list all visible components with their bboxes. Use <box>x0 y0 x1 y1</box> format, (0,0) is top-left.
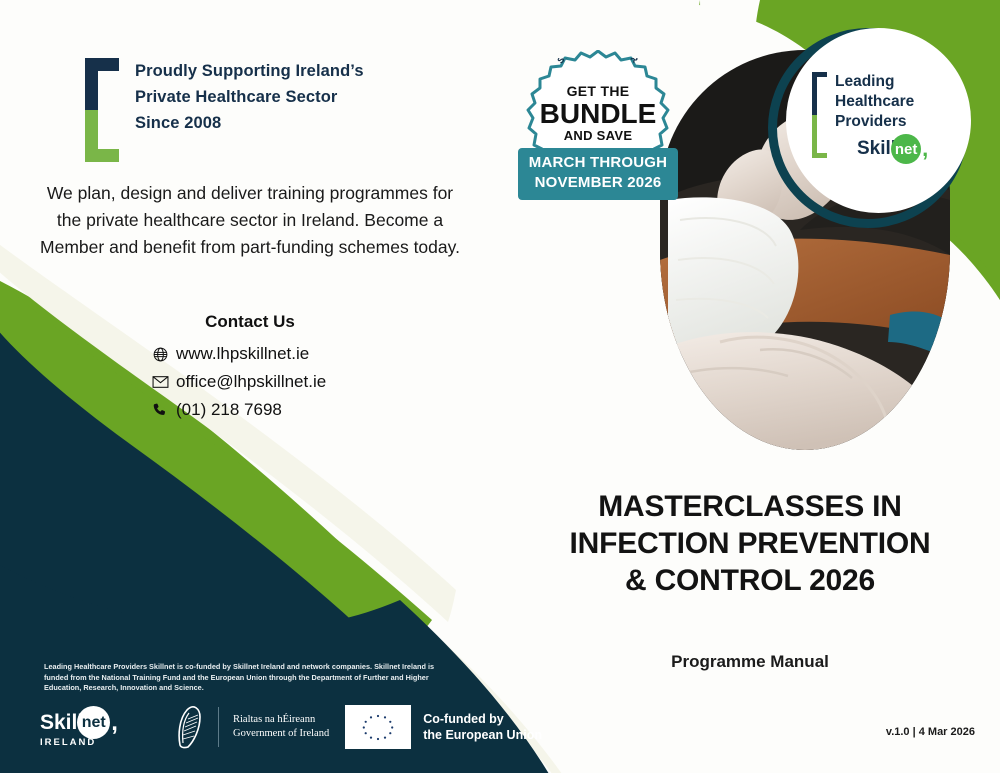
tagline-line-2: Private Healthcare Sector <box>135 84 364 110</box>
version-label: v.1.0 | 4 Mar 2026 <box>690 726 975 738</box>
title-line-1: MASTERCLASSES IN <box>505 488 995 525</box>
intro-paragraph: We plan, design and deliver training pro… <box>40 180 460 261</box>
tagline-line-3: Since 2008 <box>135 110 364 136</box>
badge-strip-line-2: NOVEMBER 2026 <box>518 173 678 193</box>
special-offer-badge: SPECIAL OFFER GET THE BUNDLE AND SAVE MA… <box>518 50 678 195</box>
gov-english-text: Government of Ireland <box>233 727 329 741</box>
eu-flag-icon <box>345 705 411 749</box>
contact-item-phone[interactable]: (01) 218 7698 <box>40 396 460 424</box>
badge-text: SPECIAL OFFER GET THE BUNDLE AND SAVE <box>532 58 664 143</box>
page-title: MASTERCLASSES IN INFECTION PREVENTION & … <box>505 488 995 599</box>
footer-skillnet-ireland: IRELAND <box>40 737 158 748</box>
badge-arc-text: SPECIAL OFFER <box>532 58 664 80</box>
badge-get-the: GET THE <box>532 83 664 99</box>
contact-list: www.lhpskillnet.ie office@lhpskillnet.ie… <box>40 340 460 424</box>
tagline-line-1: Proudly Supporting Ireland’s <box>135 58 364 84</box>
footer-logo-row: Skill net , IRELAND Rialtas na hÉireann … <box>40 703 542 751</box>
logo-bracket-icon <box>812 72 827 158</box>
left-content-column: Proudly Supporting Ireland’s Private Hea… <box>0 0 500 470</box>
badge-date-strip: MARCH THROUGH NOVEMBER 2026 <box>518 148 678 200</box>
logo-line-2: Healthcare <box>835 92 914 112</box>
eu-line-2: the European Union <box>423 727 542 743</box>
email-text: office@lhpskillnet.ie <box>176 372 326 392</box>
title-line-2: INFECTION PREVENTION <box>505 525 995 562</box>
footer-skillnet-comma: , <box>111 712 118 734</box>
government-of-ireland-label: Rialtas na hÉireann Government of Irelan… <box>233 713 329 741</box>
phone-text: (01) 218 7698 <box>176 400 282 420</box>
funding-note: Leading Healthcare Providers Skillnet is… <box>44 662 444 694</box>
cover-page: Proudly Supporting Ireland’s Private Hea… <box>0 0 1000 773</box>
logo-line-1: Leading <box>835 72 914 92</box>
tagline-block: Proudly Supporting Ireland’s Private Hea… <box>85 58 364 163</box>
contact-item-website[interactable]: www.lhpskillnet.ie <box>40 340 460 368</box>
gov-irish-text: Rialtas na hÉireann <box>233 713 329 727</box>
skillnet-wordmark: Skill net , <box>857 134 928 164</box>
page-subtitle: Programme Manual <box>505 652 995 672</box>
envelope-icon <box>148 375 172 389</box>
skillnet-comma: , <box>922 136 928 162</box>
svg-text:SPECIAL OFFER: SPECIAL OFFER <box>555 58 641 65</box>
logo-line-3: Providers <box>835 112 914 132</box>
tagline-text: Proudly Supporting Ireland’s Private Hea… <box>135 58 364 163</box>
globe-icon <box>148 346 172 363</box>
badge-strip-line-1: MARCH THROUGH <box>518 153 678 173</box>
title-line-3: & CONTROL 2026 <box>505 562 995 599</box>
contact-heading: Contact Us <box>40 312 460 332</box>
eu-funding-label: Co-funded by the European Union <box>423 711 542 743</box>
eu-line-1: Co-funded by <box>423 711 542 727</box>
phone-icon <box>148 402 172 418</box>
website-text: www.lhpskillnet.ie <box>176 344 309 364</box>
contact-item-email[interactable]: office@lhpskillnet.ie <box>40 368 460 396</box>
badge-and-save: AND SAVE <box>532 128 664 143</box>
skillnet-net-pill: net <box>891 134 921 164</box>
lhp-logo: Leading Healthcare Providers Skill net , <box>812 72 957 158</box>
footer-divider <box>218 707 219 747</box>
badge-bundle: BUNDLE <box>532 99 664 128</box>
footer-skillnet-net-pill: net <box>77 706 110 739</box>
harp-icon <box>174 705 204 749</box>
skillnet-ireland-logo: Skill net , IRELAND <box>40 705 158 749</box>
bracket-mark-icon <box>85 58 119 163</box>
